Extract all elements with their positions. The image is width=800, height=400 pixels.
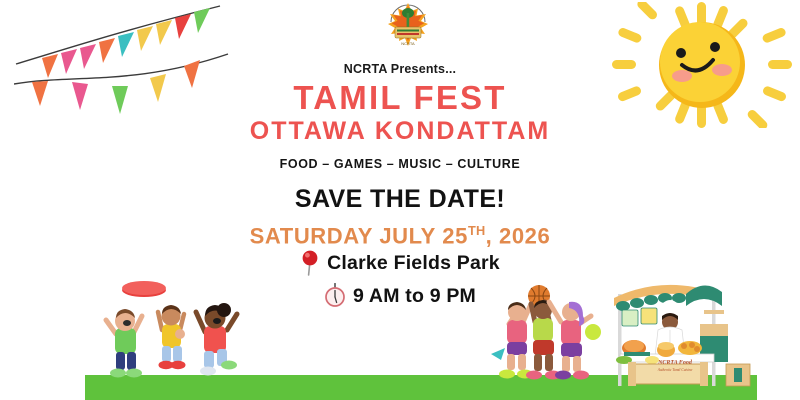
food-stall-banner-line1: NCRTA Food <box>644 360 706 367</box>
event-tagline: FOOD – GAMES – MUSIC – CULTURE <box>0 157 800 171</box>
location-row: Clarke Fields Park <box>300 250 500 276</box>
event-poster: NCRTA <box>0 0 800 400</box>
event-date: SATURDAY JULY 25TH, 2026 <box>0 223 800 249</box>
clock-icon <box>324 283 346 309</box>
time-row: 9 AM to 9 PM <box>324 283 476 309</box>
food-stall-banner-line2: Authentic Tamil Cuisine <box>644 368 706 372</box>
event-title-line2: OTTAWA KONDATTAM <box>0 117 800 146</box>
event-date-suffix: , 2026 <box>486 224 551 249</box>
headline-block: NCRTA Presents... TAMIL FEST OTTAWA KOND… <box>0 62 800 250</box>
presenter-line: NCRTA Presents... <box>0 62 800 76</box>
ncrta-maple-leaf-logo-icon: NCRTA <box>385 0 431 52</box>
basketball-players-icon <box>487 276 605 386</box>
map-pin-icon <box>300 250 320 276</box>
svg-text:NCRTA: NCRTA <box>401 41 415 46</box>
event-date-superscript: TH <box>468 223 486 238</box>
kids-playing-frisbee-icon <box>96 276 256 386</box>
event-date-prefix: SATURDAY JULY 25 <box>250 224 468 249</box>
time-text: 9 AM to 9 PM <box>353 285 476 308</box>
food-stall-banner: NCRTA Food Authentic Tamil Cuisine <box>644 360 706 372</box>
event-title-line1: TAMIL FEST <box>0 81 800 115</box>
save-the-date-text: SAVE THE DATE! <box>0 185 800 214</box>
location-text: Clarke Fields Park <box>327 252 500 275</box>
